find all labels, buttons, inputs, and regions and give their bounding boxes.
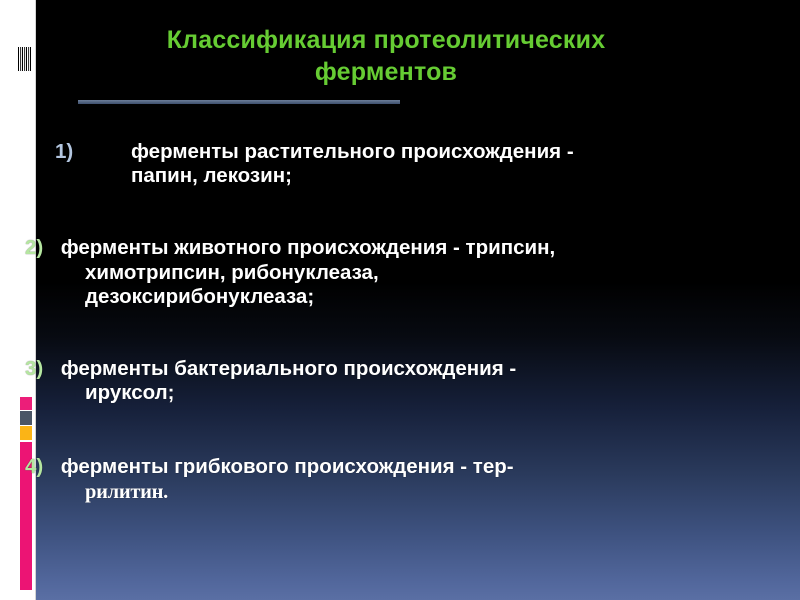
striped-accent-mark-icon — [18, 47, 32, 71]
title-underline-rule — [78, 100, 400, 104]
margin-divider — [35, 0, 36, 600]
list-item-line-2: папин, лекозин; — [131, 164, 292, 187]
list-item: 3) ферменты бактериального происхождения… — [55, 357, 755, 405]
list-item-line-1: ферменты грибкового происхождения - тер- — [61, 455, 514, 478]
list-item: 2) ферменты животного происхождения - тр… — [55, 236, 755, 309]
list-item-line-1: ферменты бактериального происхождения - — [61, 357, 517, 380]
list-item-line-3: дезоксирибонуклеаза; — [85, 285, 314, 308]
slide-title: Классификация протеолитических ферментов — [36, 24, 736, 88]
list-item-line-2: химотрипсин, рибонуклеаза, — [85, 261, 379, 284]
slate-block-icon — [20, 411, 32, 425]
presentation-slide: Классификация протеолитических ферментов… — [0, 0, 800, 600]
list-item-line-1: ферменты животного происхождения - трипс… — [61, 236, 555, 259]
list-item-line-2: рилитин. — [85, 481, 168, 503]
pink-block-top-icon — [20, 397, 32, 410]
list-item-line-2: ируксол; — [85, 381, 175, 404]
list-item: 1)ферменты растительного происхождения -… — [55, 140, 755, 188]
slide-title-line-2: ферментов — [36, 56, 736, 88]
amber-block-icon — [20, 426, 32, 440]
list-item: 4) ферменты грибкового происхождения - т… — [55, 455, 755, 503]
list-item-marker: 1) — [55, 140, 131, 164]
list-item-line-1: ферменты растительного происхождения - — [131, 140, 574, 163]
slide-title-line-1: Классификация протеолитических — [36, 24, 736, 56]
classification-list: 1)ферменты растительного происхождения -… — [55, 140, 755, 504]
